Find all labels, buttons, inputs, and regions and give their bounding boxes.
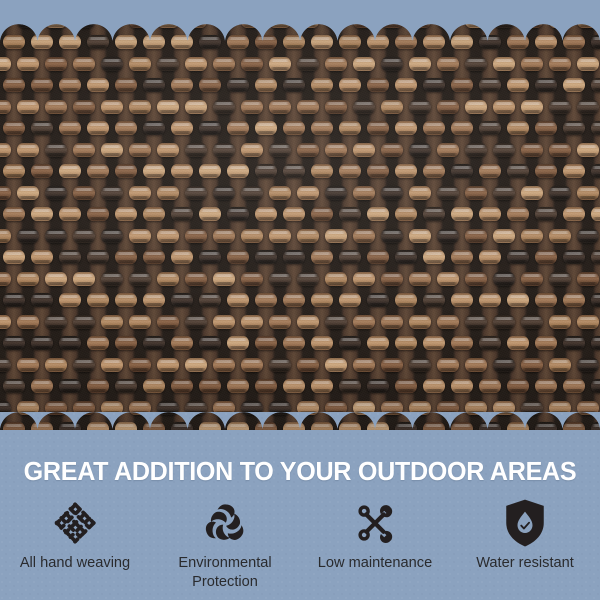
recycle-leaves-icon [202,496,248,550]
feature-item-water-resistant: Water resistant [450,496,600,592]
page-title: GREAT ADDITION TO YOUR OUTDOOR AREAS [5,458,596,487]
feature-label: Low maintenance [318,554,432,573]
feature-list: All hand weaving [0,496,600,592]
feature-label: Environmental Protection [165,554,285,592]
feature-banner: GREAT ADDITION TO YOUR OUTDOOR AREAS [0,412,600,600]
feature-item-low-maintenance: Low maintenance [300,496,450,592]
product-feature-banner: GREAT ADDITION TO YOUR OUTDOOR AREAS [0,0,600,600]
feature-item-all-hand-weaving: All hand weaving [0,496,150,592]
woven-lattice-icon [52,496,98,550]
feature-label: Water resistant [476,554,574,573]
shield-water-drop-icon [503,496,547,550]
rattan-weave-panel [0,0,600,430]
feature-item-environmental-protection: Environmental Protection [150,496,300,592]
feature-label: All hand weaving [20,554,130,573]
crossed-tools-icon [351,496,399,550]
